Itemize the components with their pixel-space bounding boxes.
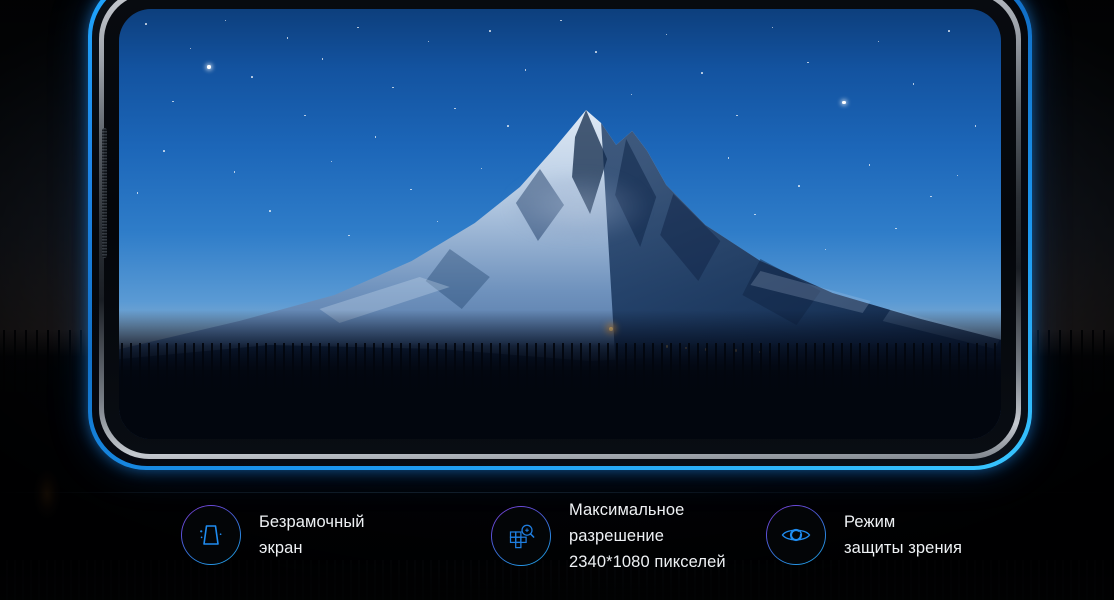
smartphone-device (88, 0, 1032, 470)
feature-label: Режим защиты зрения (844, 509, 962, 561)
feature-label-line: разрешение (569, 523, 726, 549)
wallpaper-summit-haze (507, 172, 647, 242)
feature-label: Максимальное разрешение 2340*1080 пиксел… (569, 497, 726, 575)
feature-label-line: экран (259, 535, 365, 561)
eye-icon (766, 505, 826, 565)
feature-item-bezel-less-screen[interactable]: Безрамочный экран (181, 505, 365, 565)
trapezoid-screen-icon (181, 505, 241, 565)
pixel-grid-magnifier-icon (491, 506, 551, 566)
product-promo-banner: Безрамочный экран (0, 0, 1114, 600)
feature-label-line: Безрамочный (259, 509, 365, 535)
side-speaker-grille-icon (102, 128, 107, 258)
feature-item-eye-comfort[interactable]: Режим защиты зрения (766, 505, 962, 565)
feature-label: Безрамочный экран (259, 509, 365, 561)
feature-label-line: Режим (844, 509, 962, 535)
wallpaper-forest-silhouette (119, 343, 1001, 439)
feature-list: Безрамочный экран (0, 495, 1114, 600)
feature-item-max-resolution[interactable]: Максимальное разрешение 2340*1080 пиксел… (491, 497, 726, 575)
phone-display (119, 9, 1001, 439)
feature-label-line: защиты зрения (844, 535, 962, 561)
feature-label-line: Максимальное (569, 497, 726, 523)
feature-label-line: 2340*1080 пикселей (569, 549, 726, 575)
